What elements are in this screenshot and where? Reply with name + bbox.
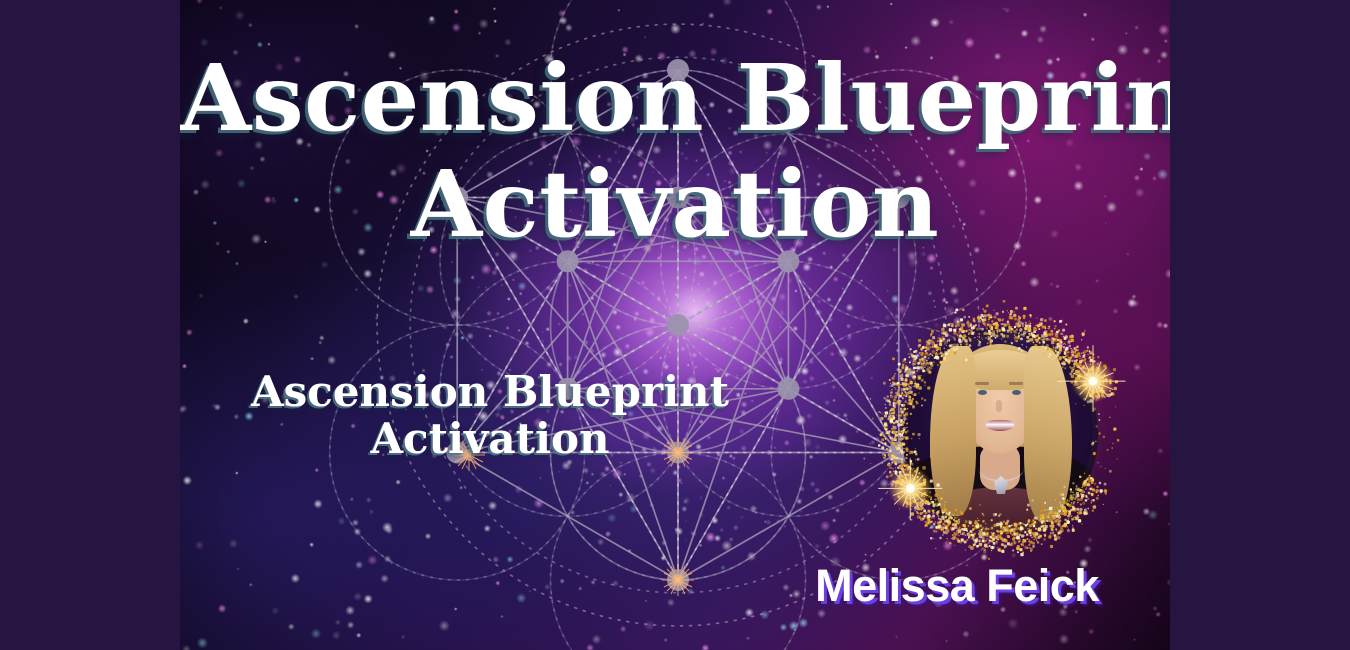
gold-glitter-ring-icon bbox=[870, 300, 1130, 560]
right-border-band bbox=[1170, 0, 1350, 650]
presenter-name: Melissa Feick bbox=[792, 560, 1122, 612]
thumbnail-canvas: Ascension Blueprint Activation Ascension… bbox=[0, 0, 1350, 650]
presenter-portrait bbox=[870, 300, 1130, 560]
artwork-area: Ascension Blueprint Activation Ascension… bbox=[180, 0, 1170, 650]
left-border-band bbox=[0, 0, 180, 650]
